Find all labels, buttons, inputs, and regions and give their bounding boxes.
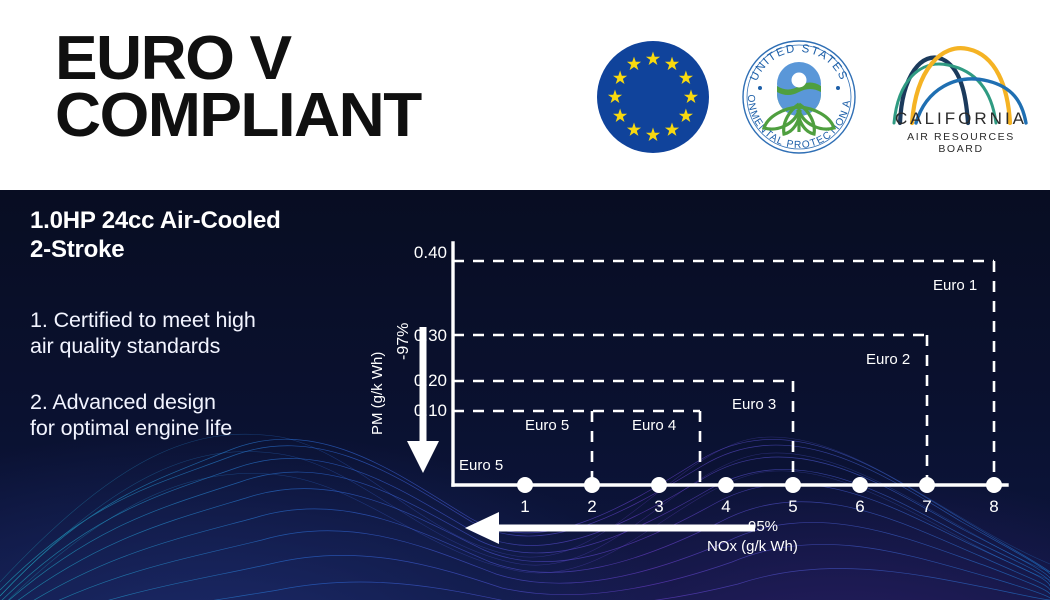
x-tick-label-3: 3 [644, 497, 674, 517]
x-tick-label-1: 1 [510, 497, 540, 517]
x-tick-label-8: 8 [979, 497, 1009, 517]
chart-axes [453, 243, 1007, 485]
feature-bullet-1-line1: 1. Certified to meet high [30, 307, 370, 333]
epa-seal-icon: UNITED STATES ENVIRONMENTAL PROTECTION A… [734, 32, 864, 162]
page-title: EURO V COMPLIANT [55, 30, 421, 144]
product-title-line2: 2-Stroke [30, 235, 370, 264]
header-banner: EURO V COMPLIANT [0, 0, 1050, 190]
california-air-resources-board-icon: CALIFORNIA AIR RESOURCES BOARD [886, 31, 1036, 163]
x-tick-label-5: 5 [778, 497, 808, 517]
feature-bullet-1-line2: air quality standards [30, 333, 370, 359]
euro-limit-step-outline [453, 261, 994, 483]
feature-bullet-2: 2. Advanced design for optimal engine li… [30, 389, 370, 441]
y-tick-label-020: 0.20 [395, 371, 447, 391]
step-label-euro-3: Euro 3 [732, 396, 776, 413]
step-label-euro-5-origin: Euro 5 [459, 457, 503, 474]
x-tick-label-2: 2 [577, 497, 607, 517]
x-tick-label-6: 6 [845, 497, 875, 517]
y-tick-label-040: 0.40 [395, 243, 447, 263]
european-union-flag-icon [594, 38, 712, 156]
y-tick-label-010: 0.10 [395, 401, 447, 421]
y-axis-label: PM (g/k Wh) [369, 352, 386, 435]
carb-logo-text: CALIFORNIA AIR RESOURCES BOARD [886, 109, 1036, 155]
step-label-euro-4: Euro 4 [632, 417, 676, 434]
carb-logo-line1: CALIFORNIA [886, 109, 1036, 129]
step-label-euro-2: Euro 2 [866, 351, 910, 368]
product-copy: 1.0HP 24cc Air-Cooled 2-Stroke 1. Certif… [30, 206, 370, 441]
nox-reduction-label: -95% [743, 518, 778, 535]
step-label-euro-5: Euro 5 [525, 417, 569, 434]
product-title: 1.0HP 24cc Air-Cooled 2-Stroke [30, 206, 370, 265]
y-tick-label-030: 0.30 [395, 326, 447, 346]
carb-logo-line2: AIR RESOURCES BOARD [886, 131, 1036, 155]
feature-bullet-2-line2: for optimal engine life [30, 415, 370, 441]
infographic-root: EURO V COMPLIANT [0, 0, 1050, 600]
x-tick-label-7: 7 [912, 497, 942, 517]
step-label-euro-1: Euro 1 [933, 277, 977, 294]
page-title-line1: EURO V [55, 30, 421, 87]
feature-bullet-2-line1: 2. Advanced design [30, 389, 370, 415]
certification-logos: UNITED STATES ENVIRONMENTAL PROTECTION A… [594, 24, 1036, 169]
x-axis-label: NOx (g/k Wh) [707, 538, 798, 555]
feature-bullet-1: 1. Certified to meet high air quality st… [30, 307, 370, 359]
x-tick-label-4: 4 [711, 497, 741, 517]
product-title-line1: 1.0HP 24cc Air-Cooled [30, 206, 370, 235]
page-title-line2: COMPLIANT [55, 87, 421, 144]
content-panel: 1.0HP 24cc Air-Cooled 2-Stroke 1. Certif… [0, 190, 1050, 600]
emissions-step-chart: PM (g/k Wh) -97% 0.40 0.30 0.20 0.10 1 2… [355, 235, 1035, 585]
